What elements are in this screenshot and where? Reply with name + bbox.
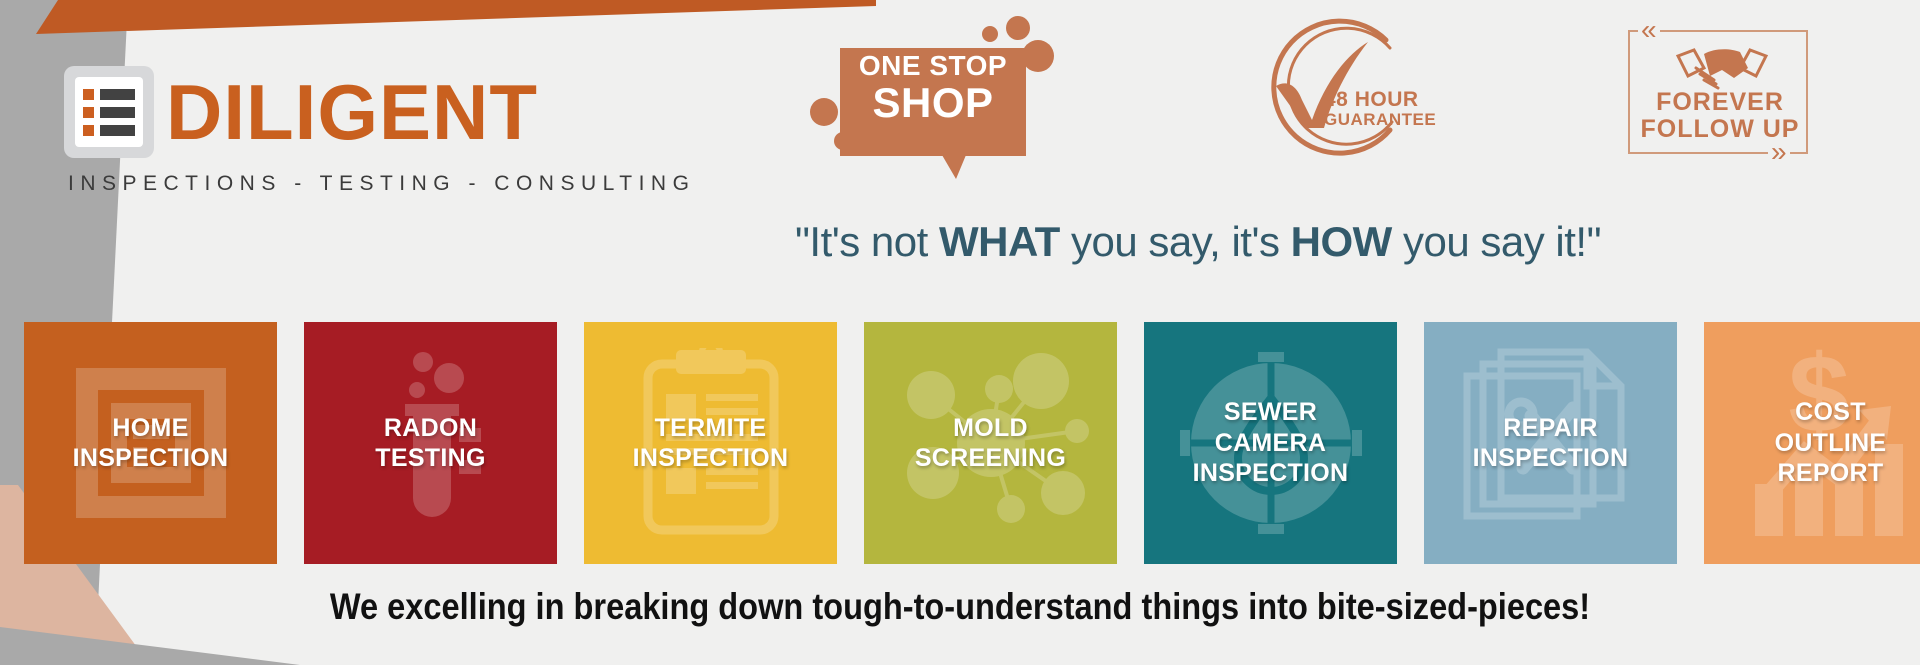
badge-forever-follow-up-line1: FOREVER bbox=[1622, 90, 1818, 115]
tagline-quote: "It's not WHAT you say, it's HOW you say… bbox=[795, 218, 1885, 266]
tagline-part-2: you say, it's bbox=[1060, 218, 1291, 265]
badge-forever-follow-up: « » FOREVER FOLLOW UP bbox=[1622, 22, 1818, 158]
service-tile-label: MOLDSCREENING bbox=[909, 413, 1072, 474]
badge-one-stop-shop-line2: SHOP bbox=[840, 82, 1026, 124]
badge-one-stop-shop-line1: ONE STOP bbox=[840, 52, 1026, 80]
tagline-emphasis-what: WHAT bbox=[939, 218, 1060, 265]
handshake-icon bbox=[1674, 42, 1770, 90]
service-tile-termite-inspection[interactable]: TERMITEINSPECTION bbox=[584, 322, 837, 564]
badge-48-hour-guarantee-line2: GUARANTEE bbox=[1324, 110, 1436, 130]
badge-48-hour-guarantee-line1: 48 HOUR bbox=[1324, 88, 1419, 112]
service-tile-label: COSTOUTLINEREPORT bbox=[1769, 397, 1893, 489]
services-tile-row: HOMEINSPECTION RADONTESTING bbox=[24, 322, 1896, 564]
service-tile-mold-screening[interactable]: MOLDSCREENING bbox=[864, 322, 1117, 564]
brand-subtitle: INSPECTIONS - TESTING - CONSULTING bbox=[68, 172, 724, 196]
decorative-dot bbox=[982, 26, 998, 42]
service-tile-label: RADONTESTING bbox=[369, 413, 491, 474]
tagline-emphasis-how: HOW bbox=[1291, 218, 1392, 265]
orange-top-bar-decoration bbox=[36, 0, 876, 34]
tagline-part-3: you say it!" bbox=[1392, 218, 1601, 265]
chevron-left-double-icon: « bbox=[1638, 16, 1660, 44]
checklist-icon bbox=[64, 66, 154, 158]
marketing-banner: DILIGENT INSPECTIONS - TESTING - CONSULT… bbox=[0, 0, 1920, 665]
service-tile-label: TERMITEINSPECTION bbox=[627, 413, 795, 474]
service-tile-home-inspection[interactable]: HOMEINSPECTION bbox=[24, 322, 277, 564]
service-tile-label: SEWERCAMERAINSPECTION bbox=[1187, 397, 1355, 489]
tagline-part-1: "It's not bbox=[795, 218, 939, 265]
decorative-dot bbox=[810, 98, 838, 126]
service-tile-label: REPAIRINSPECTION bbox=[1467, 413, 1635, 474]
badge-forever-follow-up-line2: FOLLOW UP bbox=[1622, 117, 1818, 142]
badge-48-hour-guarantee: 48 HOUR GUARANTEE bbox=[1240, 18, 1440, 166]
speech-bubble-tail-icon bbox=[942, 155, 966, 179]
service-tile-sewer-camera-inspection[interactable]: SEWERCAMERAINSPECTION bbox=[1144, 322, 1397, 564]
service-tile-radon-testing[interactable]: RADONTESTING bbox=[304, 322, 557, 564]
service-tile-cost-outline-report[interactable]: $ COSTOUTLINEREPORT bbox=[1704, 322, 1920, 564]
decorative-dot bbox=[1022, 40, 1054, 72]
brand-logo[interactable]: DILIGENT INSPECTIONS - TESTING - CONSULT… bbox=[64, 66, 724, 196]
service-tile-repair-inspection[interactable]: REPAIRINSPECTION bbox=[1424, 322, 1677, 564]
badge-one-stop-shop: ONE STOP SHOP bbox=[810, 12, 1060, 162]
bottom-strapline: We excelling in breaking down tough-to-u… bbox=[115, 586, 1805, 628]
service-tile-label: HOMEINSPECTION bbox=[67, 413, 235, 474]
decorative-dot bbox=[1006, 16, 1030, 40]
brand-name: DILIGENT bbox=[166, 73, 538, 151]
